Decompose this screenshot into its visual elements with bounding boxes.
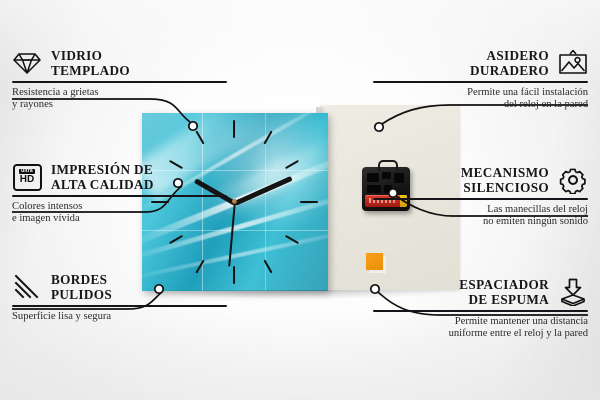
feature-asidero-duradero[interactable]: ASIDERO DURADERO Permite una fácil insta… (373, 48, 588, 111)
polished-edges-icon (12, 272, 42, 302)
clock-tick (300, 201, 318, 203)
infographic-canvas: VIDRIO TEMPLADO Resistencia a grietas y … (0, 0, 600, 400)
divider (12, 305, 227, 307)
divider (373, 198, 588, 200)
feature-title: DE ESPUMA (459, 292, 549, 307)
clock-center-pin (232, 199, 237, 204)
feature-desc: y rayones (12, 99, 227, 111)
feature-title: MECANISMO (461, 165, 549, 180)
feature-desc: del reloj en la pared (373, 99, 588, 111)
feature-title: SILENCIOSO (461, 180, 549, 195)
wall-hanger-frame-icon (558, 48, 588, 78)
feature-desc: no emiten ningún sonido (373, 216, 588, 228)
feature-mecanismo-silencioso[interactable]: MECANISMO SILENCIOSO Las manecillas del … (373, 165, 588, 228)
clock-tick (233, 120, 235, 138)
foam-spacer-pad (366, 253, 383, 270)
ultra-hd-icon: ultra HD (12, 162, 42, 192)
feature-desc: Permite una fácil instalación (373, 87, 588, 99)
ultra-hd-bottom-text: HD (20, 175, 34, 185)
feature-title: ESPACIADOR (459, 277, 549, 292)
diamond-icon (12, 48, 42, 78)
feature-title: ALTA CALIDAD (51, 177, 154, 192)
feature-title: ASIDERO (470, 48, 549, 63)
divider (373, 81, 588, 83)
divider (12, 81, 227, 83)
feature-title: BORDES (51, 272, 112, 287)
feature-title: PULIDOS (51, 287, 112, 302)
feature-desc: Colores intensos (12, 201, 227, 213)
feature-title: DURADERO (470, 63, 549, 78)
feature-desc: uniforme entre el reloj y la pared (373, 328, 588, 340)
feature-desc: Permite mantener una distancia (373, 316, 588, 328)
divider (12, 195, 227, 197)
feature-impresion-alta-calidad[interactable]: ultra HD IMPRESIÓN DE ALTA CALIDAD Color… (12, 162, 227, 225)
feature-desc: Superficie lisa y segura (12, 311, 227, 323)
feature-desc: Las manecillas del reloj (373, 204, 588, 216)
feature-title: IMPRESIÓN DE (51, 162, 154, 177)
feature-vidrio-templado[interactable]: VIDRIO TEMPLADO Resistencia a grietas y … (12, 48, 227, 111)
feature-title: VIDRIO (51, 48, 130, 63)
feature-desc: Resistencia a grietas (12, 87, 227, 99)
feature-title: TEMPLADO (51, 63, 130, 78)
feature-bordes-pulidos[interactable]: BORDES PULIDOS Superficie lisa y segura (12, 272, 227, 323)
clock-tick (233, 266, 235, 284)
feature-espaciador-espuma[interactable]: ESPACIADOR DE ESPUMA Permite mantener un… (373, 277, 588, 340)
feature-desc: e imagen vívida (12, 213, 227, 225)
foam-spacer-icon (558, 277, 588, 307)
divider (373, 310, 588, 312)
gear-icon (558, 165, 588, 195)
